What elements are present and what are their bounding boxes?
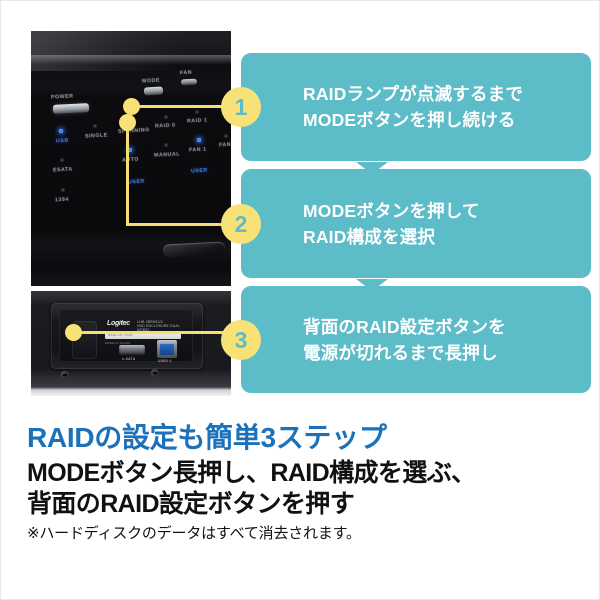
step-text-3: 背面のRAID設定ボタンを 電源が切れるまで長押し [303,314,506,366]
screw-left [61,371,69,379]
ieee1394-label: 1394 [55,197,69,204]
raid0-label: RAID 0 [155,122,176,129]
esata-led [60,158,64,162]
power-label: POWER [51,93,74,100]
step-text-1: RAIDランプが点滅するまで MODEボタンを押し続ける [303,81,523,133]
power-button[interactable] [53,103,89,114]
user-label-right: USER [191,168,208,175]
front-panel-photo: POWER MODE FAN USB SINGLE SPANNING RAID … [31,31,231,286]
single-label: SINGLE [85,132,108,139]
rear-panel-photo: Logitec LHR-2BRHEU3 HDD ENCLOSURE DUAL M… [31,291,231,396]
fan1-label: FAN 1 [189,147,207,154]
step-number-2: 2 [221,204,261,244]
fan-button[interactable] [181,79,197,86]
usb-port [157,340,177,358]
auto-label: AUTO [122,157,139,164]
ieee1394-led [61,188,65,192]
front-panel-highlight [31,31,231,71]
usb-label: USB [56,138,69,145]
brand-logo: Logitec [107,320,130,327]
usb-led [59,129,63,133]
leader-dot-2 [119,114,136,131]
esata-label: ESATA [53,166,73,173]
mode-button[interactable] [144,87,163,96]
page-note: ※ハードディスクのデータはすべて消去されます。 [27,524,587,544]
step-number-1: 1 [221,87,261,127]
step-text-2: MODEボタンを押して RAID構成を選択 [303,198,480,250]
fan-label: FAN [180,70,192,77]
leader-dot-1 [123,98,140,115]
leader-dot-3 [65,324,82,341]
raid1-led [195,110,199,114]
page-subline: MODEボタン長押し、RAID構成を選ぶ、 背面のRAID設定ボタンを押す [27,458,587,520]
screw-right [151,369,159,377]
page-headline: RAIDの設定も簡単3ステップ [27,421,587,455]
fan2-label: FAN 2 [219,142,231,149]
esata-port [119,345,145,356]
raid1-label: RAID 1 [187,117,208,124]
step-box-1: 1 RAIDランプが点滅するまで MODEボタンを押し続ける [241,53,591,161]
step-box-2: 2 MODEボタンを押して RAID構成を選択 [241,169,591,278]
manual-led [164,143,168,147]
mode-label: MODE [142,78,160,85]
infographic-page: POWER MODE FAN USB SINGLE SPANNING RAID … [0,0,600,600]
raid0-led [164,115,168,119]
step-box-3: 3 背面のRAID設定ボタンを 電源が切れるまで長押し [241,286,591,393]
esata-port-label: e-SATA [122,357,136,361]
leader-line-2-vertical [126,129,129,226]
step-number-3: 3 [221,320,261,360]
fan2-led [224,134,228,138]
front-panel-edge-highlight [31,55,231,65]
bottom-text-block: RAIDの設定も簡単3ステップ MODEボタン長押し、RAID構成を選ぶ、 背面… [27,421,587,544]
user-label-left: USER [128,179,145,186]
usb-port-label: USB3.0 [158,359,172,363]
fan1-led [197,138,201,142]
single-led [93,124,97,128]
